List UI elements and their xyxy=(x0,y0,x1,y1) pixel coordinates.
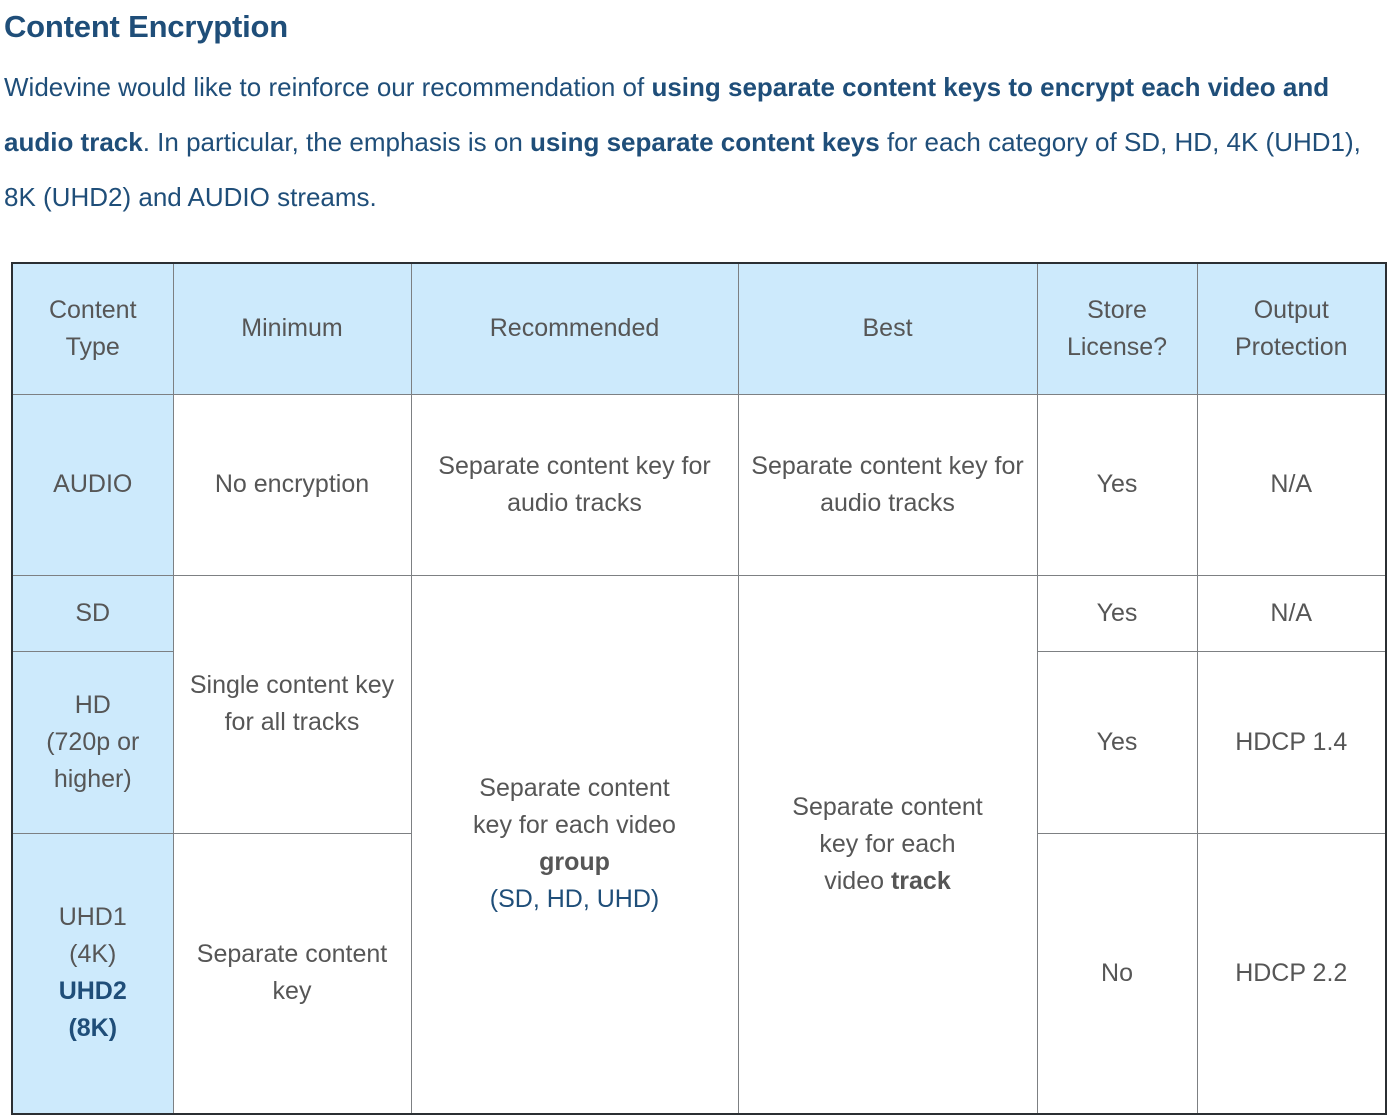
column-header-output-protection: Output Protection xyxy=(1197,263,1386,394)
cell-output-protection-hd: HDCP 1.4 xyxy=(1197,651,1386,833)
uhd1-label: UHD1 xyxy=(19,899,167,936)
table-row: SD Single content key for all tracks Sep… xyxy=(12,575,1386,651)
uhd2-label: UHD2 xyxy=(19,973,167,1010)
cell-recommended-audio: Separate content key for audio tracks xyxy=(411,394,738,575)
uhd1-resolution: (4K) xyxy=(19,936,167,973)
column-header-best: Best xyxy=(738,263,1037,394)
hd-line-1: HD xyxy=(19,687,167,724)
cell-content-type-uhd: UHD1 (4K) UHD2 (8K) xyxy=(12,833,173,1114)
uhd2-resolution: (8K) xyxy=(19,1010,167,1047)
table-row: AUDIO No encryption Separate content key… xyxy=(12,394,1386,575)
cell-minimum-audio: No encryption xyxy=(173,394,411,575)
cell-content-type-sd: SD xyxy=(12,575,173,651)
table-header-row: Content Type Minimum Recommended Best St… xyxy=(12,263,1386,394)
column-header-content-type: Content Type xyxy=(12,263,173,394)
cell-best-video-track: Separate content key for each video trac… xyxy=(738,575,1037,1114)
cell-minimum-uhd: Separate content key xyxy=(173,833,411,1114)
hd-line-2: (720p or xyxy=(19,724,167,761)
cell-output-protection-audio: N/A xyxy=(1197,394,1386,575)
best-line-3-prefix: video xyxy=(824,867,891,895)
column-header-recommended: Recommended xyxy=(411,263,738,394)
intro-paragraph: Widevine would like to reinforce our rec… xyxy=(0,46,1396,225)
cell-store-license-audio: Yes xyxy=(1037,394,1197,575)
recommended-detail: (SD, HD, UHD) xyxy=(418,881,732,918)
best-line-2: key for each xyxy=(745,826,1031,863)
recommended-line-2: key for each video xyxy=(418,807,732,844)
content-encryption-table: Content Type Minimum Recommended Best St… xyxy=(11,262,1387,1115)
best-line-1: Separate content xyxy=(745,789,1031,826)
column-header-store-license: Store License? xyxy=(1037,263,1197,394)
cell-minimum-single-key: Single content key for all tracks xyxy=(173,575,411,833)
cell-store-license-hd: Yes xyxy=(1037,651,1197,833)
cell-store-license-uhd: No xyxy=(1037,833,1197,1114)
column-header-minimum: Minimum xyxy=(173,263,411,394)
page-title: Content Encryption xyxy=(0,0,1396,46)
table-header: Content Type Minimum Recommended Best St… xyxy=(12,263,1386,394)
intro-bold-2: using separate content keys xyxy=(530,127,880,157)
table-body: AUDIO No encryption Separate content key… xyxy=(12,394,1386,1114)
cell-output-protection-sd: N/A xyxy=(1197,575,1386,651)
minimum-single-key-text: Single content key for all tracks xyxy=(190,671,394,736)
cell-output-protection-uhd: HDCP 2.2 xyxy=(1197,833,1386,1114)
intro-segment-2: . In particular, the emphasis is on xyxy=(143,127,530,157)
cell-recommended-video-group: Separate content key for each video grou… xyxy=(411,575,738,1114)
cell-content-type-hd: HD (720p or higher) xyxy=(12,651,173,833)
recommended-emphasis: group xyxy=(418,844,732,881)
content-encryption-page: Content Encryption Widevine would like t… xyxy=(0,0,1396,1118)
best-line-3: video track xyxy=(745,863,1031,900)
cell-best-audio: Separate content key for audio tracks xyxy=(738,394,1037,575)
best-emphasis: track xyxy=(891,867,951,895)
cell-store-license-sd: Yes xyxy=(1037,575,1197,651)
cell-content-type-audio: AUDIO xyxy=(12,394,173,575)
hd-line-3: higher) xyxy=(19,761,167,798)
recommended-line-1: Separate content xyxy=(418,770,732,807)
intro-segment-1: Widevine would like to reinforce our rec… xyxy=(4,72,651,102)
